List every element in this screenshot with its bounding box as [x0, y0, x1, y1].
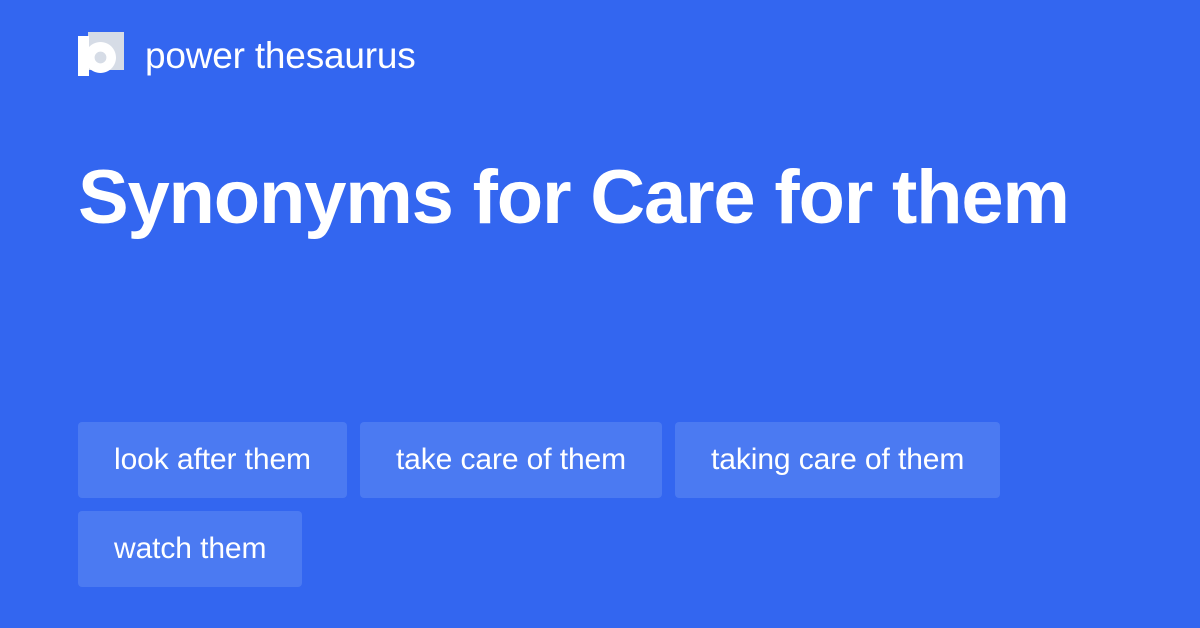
synonym-chip[interactable]: look after them: [78, 422, 347, 498]
page-title: Synonyms for Care for them: [78, 142, 1088, 254]
share-card: power thesaurus Synonyms for Care for th…: [0, 0, 1200, 628]
synonym-chip[interactable]: watch them: [78, 511, 302, 587]
synonym-chip[interactable]: take care of them: [360, 422, 662, 498]
synonym-chip[interactable]: taking care of them: [675, 422, 1000, 498]
power-thesaurus-b-logo-icon: [78, 32, 124, 80]
synonym-chip-list: look after them take care of them taking…: [78, 422, 1118, 587]
brand-name: power thesaurus: [145, 34, 416, 78]
brand-header[interactable]: power thesaurus: [78, 28, 416, 84]
